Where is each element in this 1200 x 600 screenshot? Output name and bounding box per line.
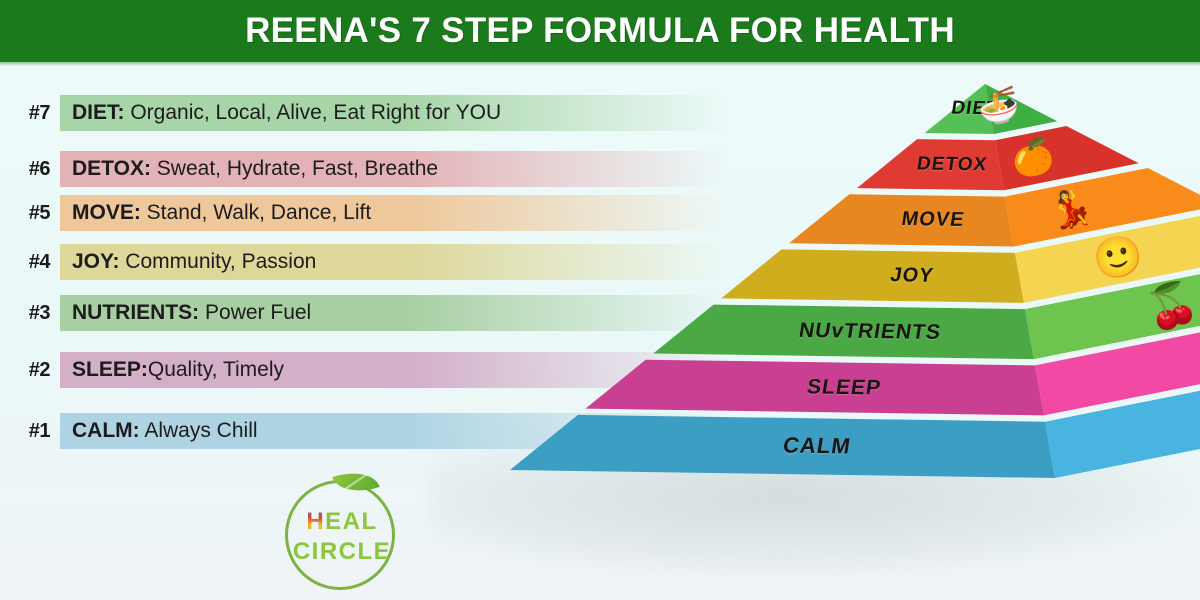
- step-label: NUTRIENTS: Power Fuel: [60, 301, 311, 325]
- logo-word-heal: HEAL: [277, 508, 407, 536]
- step-label: JOY: Community, Passion: [60, 250, 316, 274]
- logo-word-heal-rest: EAL: [325, 508, 378, 535]
- step-number: #1: [0, 420, 60, 443]
- logo-letter-h: H: [306, 508, 325, 535]
- pyramid-tier-left-face: [495, 78, 1200, 558]
- step-number: #2: [0, 359, 60, 382]
- title-banner: REENA'S 7 STEP FORMULA FOR HEALTH: [0, 0, 1200, 62]
- step-detail: Quality, Timely: [148, 358, 284, 381]
- pyramid-tier-label: CALM: [781, 433, 853, 460]
- step-keyword: NUTRIENTS:: [72, 301, 199, 324]
- pyramid-tier: CALM☯: [495, 78, 1200, 558]
- step-keyword: CALM:: [72, 419, 140, 442]
- step-detail: Stand, Walk, Dance, Lift: [141, 201, 371, 224]
- step-detail: Community, Passion: [119, 250, 316, 273]
- logo-word-circle: CIRCLE: [277, 538, 407, 566]
- step-label: MOVE: Stand, Walk, Dance, Lift: [60, 201, 371, 225]
- step-keyword: MOVE:: [72, 201, 141, 224]
- step-keyword: DIET:: [72, 101, 125, 124]
- step-label: SLEEP:Quality, Timely: [60, 358, 284, 382]
- infographic-canvas: REENA'S 7 STEP FORMULA FOR HEALTH #7DIET…: [0, 0, 1200, 600]
- step-number: #3: [0, 302, 60, 325]
- step-detail: Always Chill: [140, 419, 258, 442]
- step-number: #5: [0, 202, 60, 225]
- step-detail: Sweat, Hydrate, Fast, Breathe: [151, 157, 438, 180]
- page-title: REENA'S 7 STEP FORMULA FOR HEALTH: [245, 11, 955, 51]
- pyramid-tier-right-face: [495, 78, 1200, 558]
- step-label: DETOX: Sweat, Hydrate, Fast, Breathe: [60, 157, 438, 181]
- heal-circle-logo: HEAL CIRCLE: [277, 468, 407, 594]
- step-detail: Power Fuel: [199, 301, 311, 324]
- step-label: CALM: Always Chill: [60, 419, 258, 443]
- step-number: #6: [0, 158, 60, 181]
- step-number: #4: [0, 251, 60, 274]
- step-keyword: DETOX:: [72, 157, 151, 180]
- step-keyword: SLEEP:: [72, 358, 148, 381]
- step-detail: Organic, Local, Alive, Eat Right for YOU: [125, 101, 502, 124]
- step-keyword: JOY:: [72, 250, 119, 273]
- step-label: DIET: Organic, Local, Alive, Eat Right f…: [60, 101, 501, 125]
- health-pyramid: DIET🍜DETOX🍊MOVE💃JOY🙂NUvTRIENTS🍒SLEEP😴CAL…: [495, 78, 1200, 558]
- step-number: #7: [0, 102, 60, 125]
